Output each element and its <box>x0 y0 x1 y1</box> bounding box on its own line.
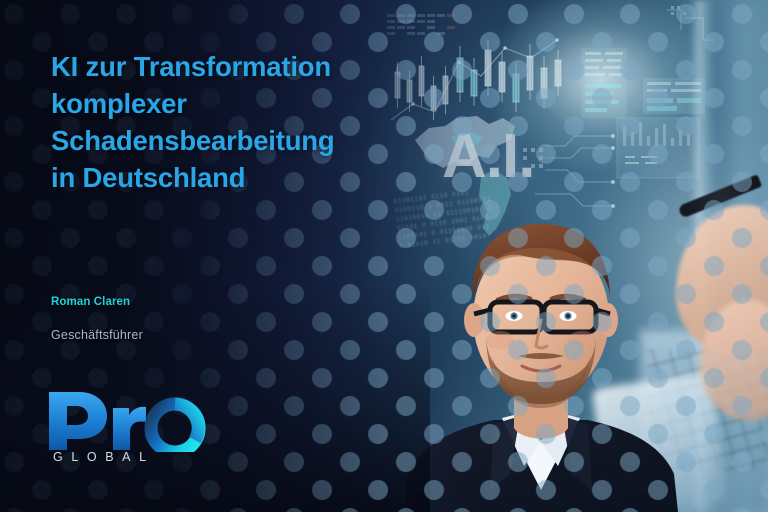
speaker-portrait <box>398 190 684 512</box>
logo-pro-svg <box>45 390 215 452</box>
logo-subtext-global: GLOBAL <box>53 450 155 464</box>
presentation-slide: A.I. 01001101 0110 0101 0100110 1 0011 0… <box>0 0 768 512</box>
page-title: KI zur Transformation komplexer Schadens… <box>51 48 381 196</box>
cheek-right <box>568 331 596 349</box>
pupil-right <box>566 314 569 317</box>
ear-left <box>464 303 484 337</box>
logo-letter-r <box>113 407 146 450</box>
pro-global-logo: GLOBAL <box>45 390 215 478</box>
candlestick-chart <box>395 40 561 120</box>
speaker-role: Geschäftsführer <box>51 328 143 342</box>
logo-letter-o-highlight <box>175 404 198 440</box>
logo-wordmark-pro <box>45 390 215 452</box>
speaker-name: Roman Claren <box>51 296 130 308</box>
logo-letter-p <box>49 392 107 450</box>
pupil-left <box>512 314 515 317</box>
data-table-panels <box>581 48 705 178</box>
cheek-left <box>486 331 514 349</box>
portrait-illustration <box>398 190 684 512</box>
ear-right <box>598 303 618 337</box>
spreadsheet-grid <box>387 14 455 35</box>
